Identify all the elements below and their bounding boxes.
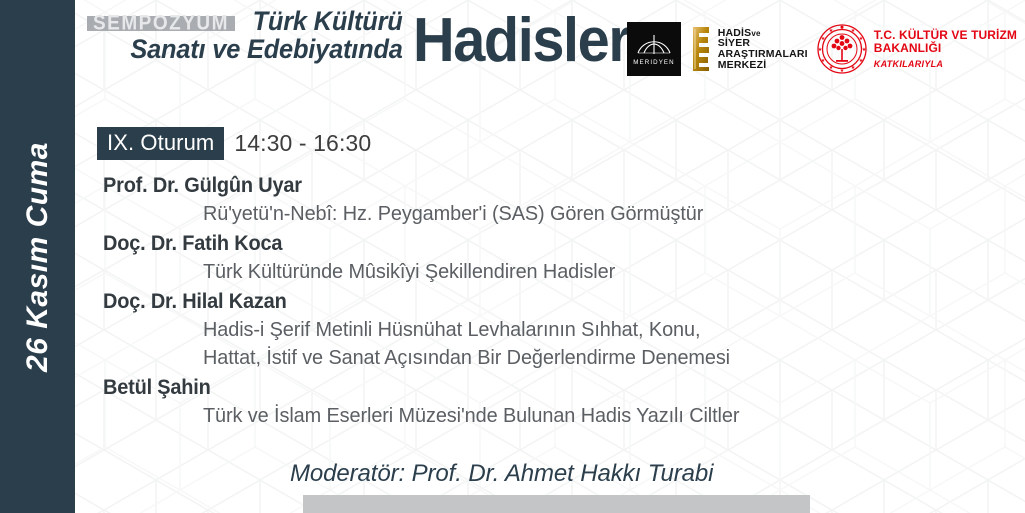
list-item: Doç. Dr. Fatih Koca Türk Kültüründe Mûsi… — [103, 230, 1005, 286]
talk-title: Hadis-i Şerif Metinli Hüsnühat Levhaları… — [203, 316, 981, 344]
hadis-siyer-logo: HADİSve SİYER ARAŞTIRMALARI MERKEZİ — [689, 25, 808, 73]
status-badge: IX. Oturum — [97, 127, 224, 160]
meridyen-logo: MERIDYEN — [627, 22, 681, 76]
subtitle-line-1: Türk Kültürü — [253, 8, 403, 36]
kultur-turizm-bakanligi-logo: ★ ★ ★ ★ ★ ★ ★ ★ ★ ★ ★ ★ — [816, 23, 1017, 75]
talk-title: Türk Kültüründe Mûsikîyi Şekillendiren H… — [203, 258, 981, 286]
subtitle-line-2: Sanatı ve Edebiyatında — [130, 36, 402, 64]
svg-text:MERIDYEN: MERIDYEN — [633, 59, 674, 66]
ministry-text-block: T.C. KÜLTÜR VE TURİZM BAKANLIĞI KATKILAR… — [874, 29, 1017, 69]
speaker-name: Betül Şahin — [103, 374, 960, 402]
session-time: 14:30 - 16:30 — [234, 130, 371, 157]
poster-header: SEMPOZYUM Türk Kültürü Sanatı ve Edebiya… — [75, 0, 1025, 100]
sidebar: 26 Kasım Cuma — [0, 0, 75, 513]
talk-title-line-2: Hattat, İstif ve Sanat Açısından Bir Değ… — [203, 344, 981, 372]
title-left-column: SEMPOZYUM Türk Kültürü Sanatı ve Edebiya… — [87, 8, 403, 69]
speaker-name: Doç. Dr. Hilal Kazan — [103, 288, 960, 316]
svg-text:★: ★ — [829, 28, 834, 34]
title-block: SEMPOZYUM Türk Kültürü Sanatı ve Edebiya… — [87, 8, 645, 69]
poster-content: IX. Oturum 14:30 - 16:30 Prof. Dr. Gülgû… — [75, 100, 1025, 513]
page-title: Hadisler — [413, 12, 629, 69]
sidebar-date-label: 26 Kasım Cuma — [21, 142, 55, 372]
ministry-seal-icon: ★ ★ ★ ★ ★ ★ ★ ★ ★ ★ ★ ★ — [816, 23, 868, 75]
hsam-line-1-suffix: ve — [751, 29, 760, 38]
svg-text:★: ★ — [840, 25, 845, 31]
kicker-and-subtitle-row: SEMPOZYUM Türk Kültürü — [87, 8, 403, 36]
svg-text:★: ★ — [821, 36, 826, 42]
talk-title: Türk ve İslam Eserleri Müzesi'nde Buluna… — [203, 402, 981, 430]
svg-text:★: ★ — [862, 47, 867, 53]
talk-list: Prof. Dr. Gülgûn Uyar Rü'yetü'n-Nebî: Hz… — [103, 172, 1005, 432]
svg-text:★: ★ — [829, 65, 834, 71]
ministry-line-3: KATKILARIYLA — [874, 59, 1017, 69]
svg-text:★: ★ — [851, 65, 856, 71]
moderator-label: Moderatör: Prof. Dr. Ahmet Hakkı Turabi — [290, 460, 713, 488]
svg-text:★: ★ — [851, 28, 856, 34]
svg-text:★: ★ — [840, 68, 845, 74]
logo-row: MERIDYEN HADİSve — [627, 22, 1017, 76]
talk-title: Rü'yetü'n-Nebî: Hz. Peygamber'i (SAS) Gö… — [203, 200, 981, 228]
symposium-poster: 26 Kasım Cuma SEMPOZYUM Türk Kültürü San… — [0, 0, 1025, 513]
list-item: Betül Şahin Türk ve İslam Eserleri Müzes… — [103, 374, 1005, 430]
session-row: IX. Oturum 14:30 - 16:30 — [97, 127, 371, 160]
list-item: Doç. Dr. Hilal Kazan Hadis-i Şerif Metin… — [103, 288, 1005, 372]
ministry-line-2: BAKANLIĞI — [874, 42, 1017, 55]
hsam-line-4: MERKEZİ — [718, 60, 808, 71]
svg-text:★: ★ — [821, 58, 826, 64]
speaker-name: Doç. Dr. Fatih Koca — [103, 230, 960, 258]
svg-text:★: ★ — [818, 47, 823, 53]
hsam-text-block: HADİSve SİYER ARAŞTIRMALARI MERKEZİ — [718, 28, 808, 71]
kicker-wrap: SEMPOZYUM — [87, 13, 235, 35]
list-item: Prof. Dr. Gülgûn Uyar Rü'yetü'n-Nebî: Hz… — [103, 172, 1005, 228]
svg-text:★: ★ — [859, 36, 864, 42]
svg-text:★: ★ — [859, 58, 864, 64]
kicker-label: SEMPOZYUM — [87, 11, 235, 36]
speaker-name: Prof. Dr. Gülgûn Uyar — [103, 172, 960, 200]
bottom-accent-bar — [303, 495, 810, 513]
hsam-emblem-icon — [689, 25, 713, 73]
